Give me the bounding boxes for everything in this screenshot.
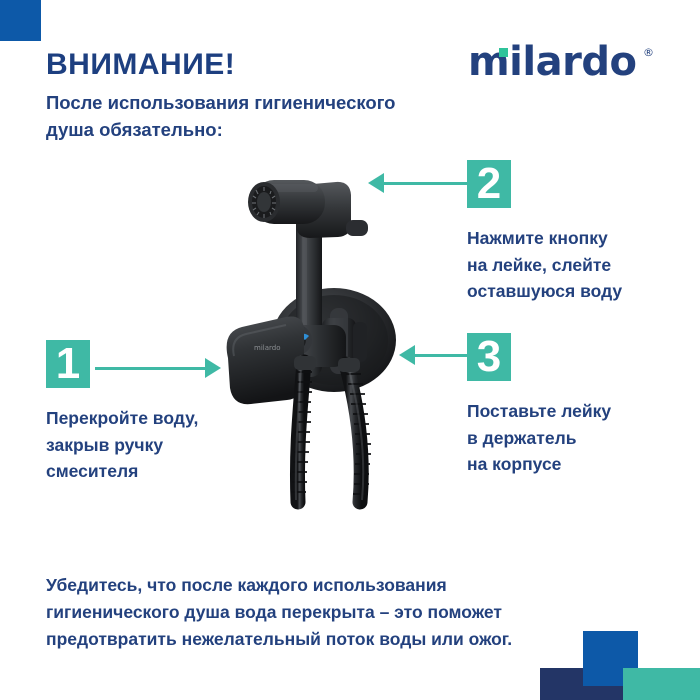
footer-note-line-2: гигиенического душа вода перекрыта – это… <box>46 599 606 626</box>
handle-brand-mark: milardo <box>254 344 280 352</box>
arrow-step-3 <box>399 345 469 365</box>
brand-logo-i-dot-icon <box>499 48 508 57</box>
step-1-number-badge: 1 <box>46 340 90 388</box>
step-3-line-1: Поставьте лейку <box>467 398 611 425</box>
step-2-line-1: Нажмите кнопку <box>467 225 622 252</box>
corner-accent-top-left <box>0 0 41 41</box>
step-1-line-1: Перекройте воду, <box>46 405 198 432</box>
arrow-step-2-line <box>381 182 469 185</box>
footer-note-line-1: Убедитесь, что после каждого использован… <box>46 572 606 599</box>
arrow-step-1-head-icon <box>205 358 221 378</box>
page-subtitle: После использования гигиенического душа … <box>46 90 466 144</box>
page-title: ВНИМАНИЕ! <box>46 48 235 81</box>
step-3-number-badge: 3 <box>467 333 511 381</box>
step-1: 1 Перекройте воду, закрыв ручку смесител… <box>46 340 198 485</box>
arrow-step-3-line <box>412 354 469 357</box>
step-3-line-3: на корпусе <box>467 451 611 478</box>
corner-accent-bottom-teal <box>623 668 700 700</box>
registered-trademark-icon: ® <box>643 46 654 59</box>
step-2: 2 Нажмите кнопку на лейке, слейте оставш… <box>467 160 622 305</box>
step-1-line-3: смесителя <box>46 458 198 485</box>
step-2-text: Нажмите кнопку на лейке, слейте оставшую… <box>467 225 622 305</box>
footer-note-line-3: предотвратить нежелательный поток воды и… <box>46 626 606 653</box>
infographic-page: ВНИМАНИЕ! После использования гигиеничес… <box>0 0 700 700</box>
side-outlet <box>346 220 368 236</box>
product-illustration: milardo <box>218 150 418 510</box>
brand-logo-wordmark: milardo <box>468 39 636 85</box>
step-1-text: Перекройте воду, закрыв ручку смесителя <box>46 405 198 485</box>
step-2-number-badge: 2 <box>467 160 511 208</box>
step-2-line-2: на лейке, слейте <box>467 252 622 279</box>
step-3-line-2: в держатель <box>467 425 611 452</box>
hose-connector-left <box>294 356 316 370</box>
page-subtitle-line-2: душа обязательно: <box>46 117 466 144</box>
step-3: 3 Поставьте лейку в держатель на корпусе <box>467 333 611 478</box>
shower-mixer-svg: milardo <box>218 150 418 510</box>
hose-connector-right <box>338 358 360 372</box>
step-3-text: Поставьте лейку в держатель на корпусе <box>467 398 611 478</box>
page-subtitle-line-1: После использования гигиенического <box>46 90 466 117</box>
step-1-line-2: закрыв ручку <box>46 432 198 459</box>
step-2-line-3: оставшуюся воду <box>467 278 622 305</box>
footer-note: Убедитесь, что после каждого использован… <box>46 572 606 653</box>
arrow-step-2-head-icon <box>368 173 384 193</box>
arrow-step-2 <box>368 173 469 193</box>
arrow-step-3-head-icon <box>399 345 415 365</box>
brand-logo: milardo ® <box>468 40 636 84</box>
